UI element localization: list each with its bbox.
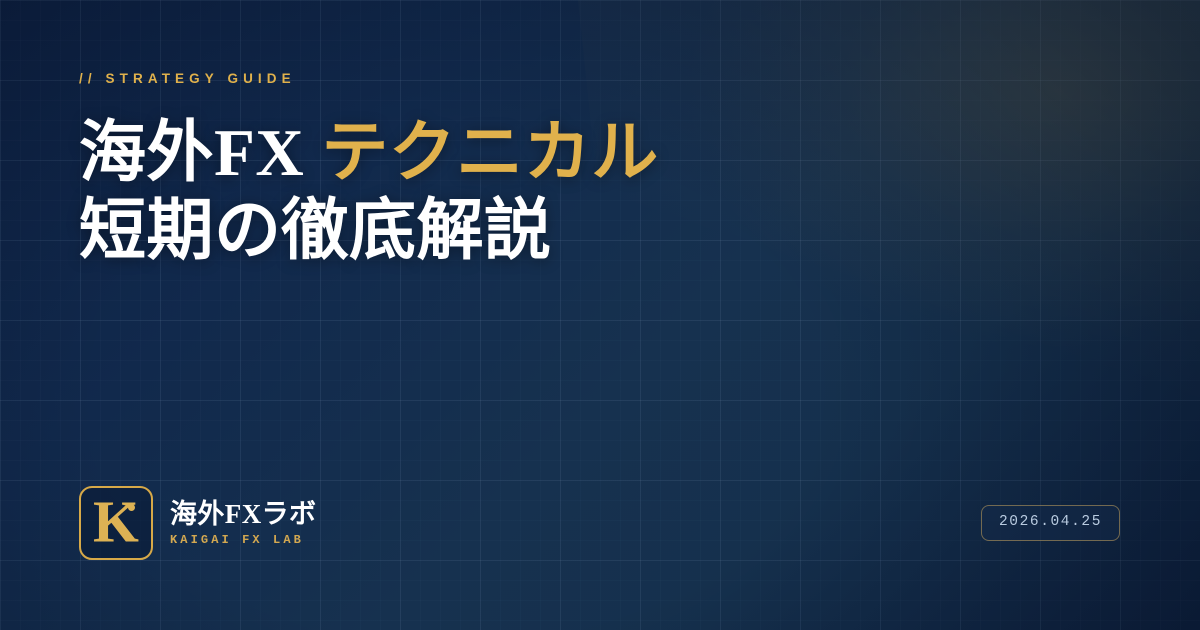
headline-line-2: 短期の徹底解説 (79, 192, 1119, 270)
og-card-canvas: // STRATEGY GUIDE 海外FXテクニカル 短期の徹底解説 K 海外… (0, 0, 1200, 630)
brand-name: 海外FXラボ (170, 499, 316, 529)
logo-mark: K (79, 486, 153, 560)
headline-line-1: 海外FXテクニカル (79, 114, 1119, 192)
headline-line-1-main: 海外FX (79, 116, 304, 190)
brand-lockup: K 海外FXラボ KAIGAI FX LAB (79, 486, 316, 560)
brand-text-group: 海外FXラボ KAIGAI FX LAB (170, 499, 316, 546)
logo-dot-icon (128, 504, 135, 511)
eyebrow-label: // STRATEGY GUIDE (79, 71, 296, 86)
brand-subtitle: KAIGAI FX LAB (170, 533, 316, 547)
logo-letter: K (81, 492, 151, 551)
headline-line-1-accent: テクニカル (321, 116, 659, 190)
date-badge: 2026.04.25 (981, 505, 1120, 541)
headline-block: 海外FXテクニカル 短期の徹底解説 (79, 114, 1119, 271)
